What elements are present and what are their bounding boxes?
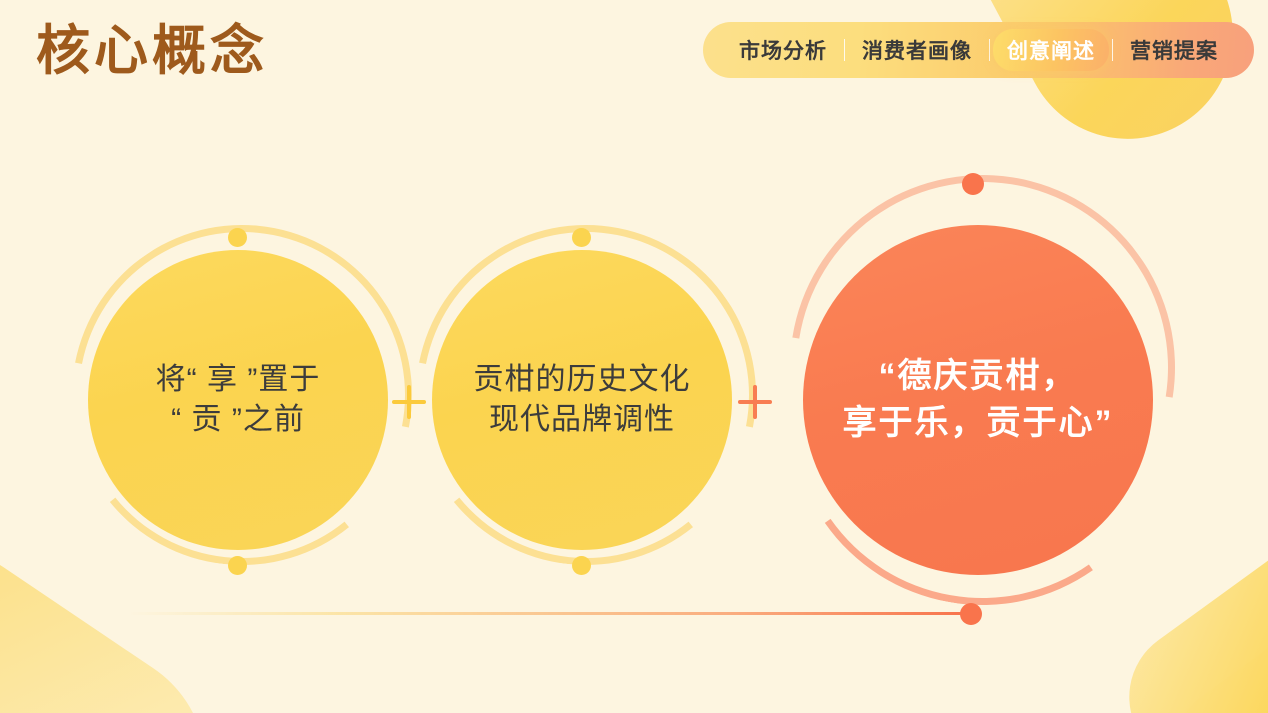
nav-item-consumer-profile[interactable]: 消费者画像 — [848, 29, 986, 71]
concept-bubble-2[interactable]: 贡柑的历史文化 现代品牌调性 — [432, 250, 732, 550]
section-nav[interactable]: 市场分析 消费者画像 创意阐述 营销提案 — [703, 22, 1254, 78]
orbit-dot-top — [962, 173, 984, 195]
nav-separator — [844, 39, 845, 61]
concept-bubble-3-text: “德庆贡柑， 享于乐，贡于心” — [829, 353, 1128, 447]
concept-card-1[interactable]: 将“ 享 ”置于 “ 贡 ”之前 — [60, 215, 420, 605]
nav-item-market-analysis[interactable]: 市场分析 — [725, 29, 841, 71]
orbit-dot-top — [228, 228, 247, 247]
concept-bubble-1-text: 将“ 享 ”置于 “ 贡 ”之前 — [142, 360, 335, 441]
orbit-dot-bottom — [228, 556, 247, 575]
nav-item-marketing-proposal[interactable]: 营销提案 — [1116, 29, 1232, 71]
nav-separator — [1112, 39, 1113, 61]
plus-icon-2-vertical — [753, 385, 757, 419]
concept-bubble-1[interactable]: 将“ 享 ”置于 “ 贡 ”之前 — [88, 250, 388, 550]
orbit-dot-top — [572, 228, 591, 247]
nav-item-creative-concept[interactable]: 创意阐述 — [993, 29, 1109, 71]
nav-separator — [989, 39, 990, 61]
concept-bubble-2-text: 贡柑的历史文化 现代品牌调性 — [460, 360, 705, 441]
concept-card-3-result[interactable]: “德庆贡柑， 享于乐，贡于心” — [780, 165, 1180, 635]
orbit-dot-bottom — [960, 603, 982, 625]
orbit-dot-bottom — [572, 556, 591, 575]
concept-bubble-3[interactable]: “德庆贡柑， 享于乐，贡于心” — [803, 225, 1153, 575]
page-title: 核心概念 — [36, 18, 268, 86]
plus-icon-2 — [738, 385, 772, 419]
slide-canvas: 核心概念 市场分析 消费者画像 创意阐述 营销提案 将“ 享 ”置于 “ 贡 ”… — [0, 0, 1268, 713]
concept-card-2[interactable]: 贡柑的历史文化 现代品牌调性 — [404, 215, 764, 605]
